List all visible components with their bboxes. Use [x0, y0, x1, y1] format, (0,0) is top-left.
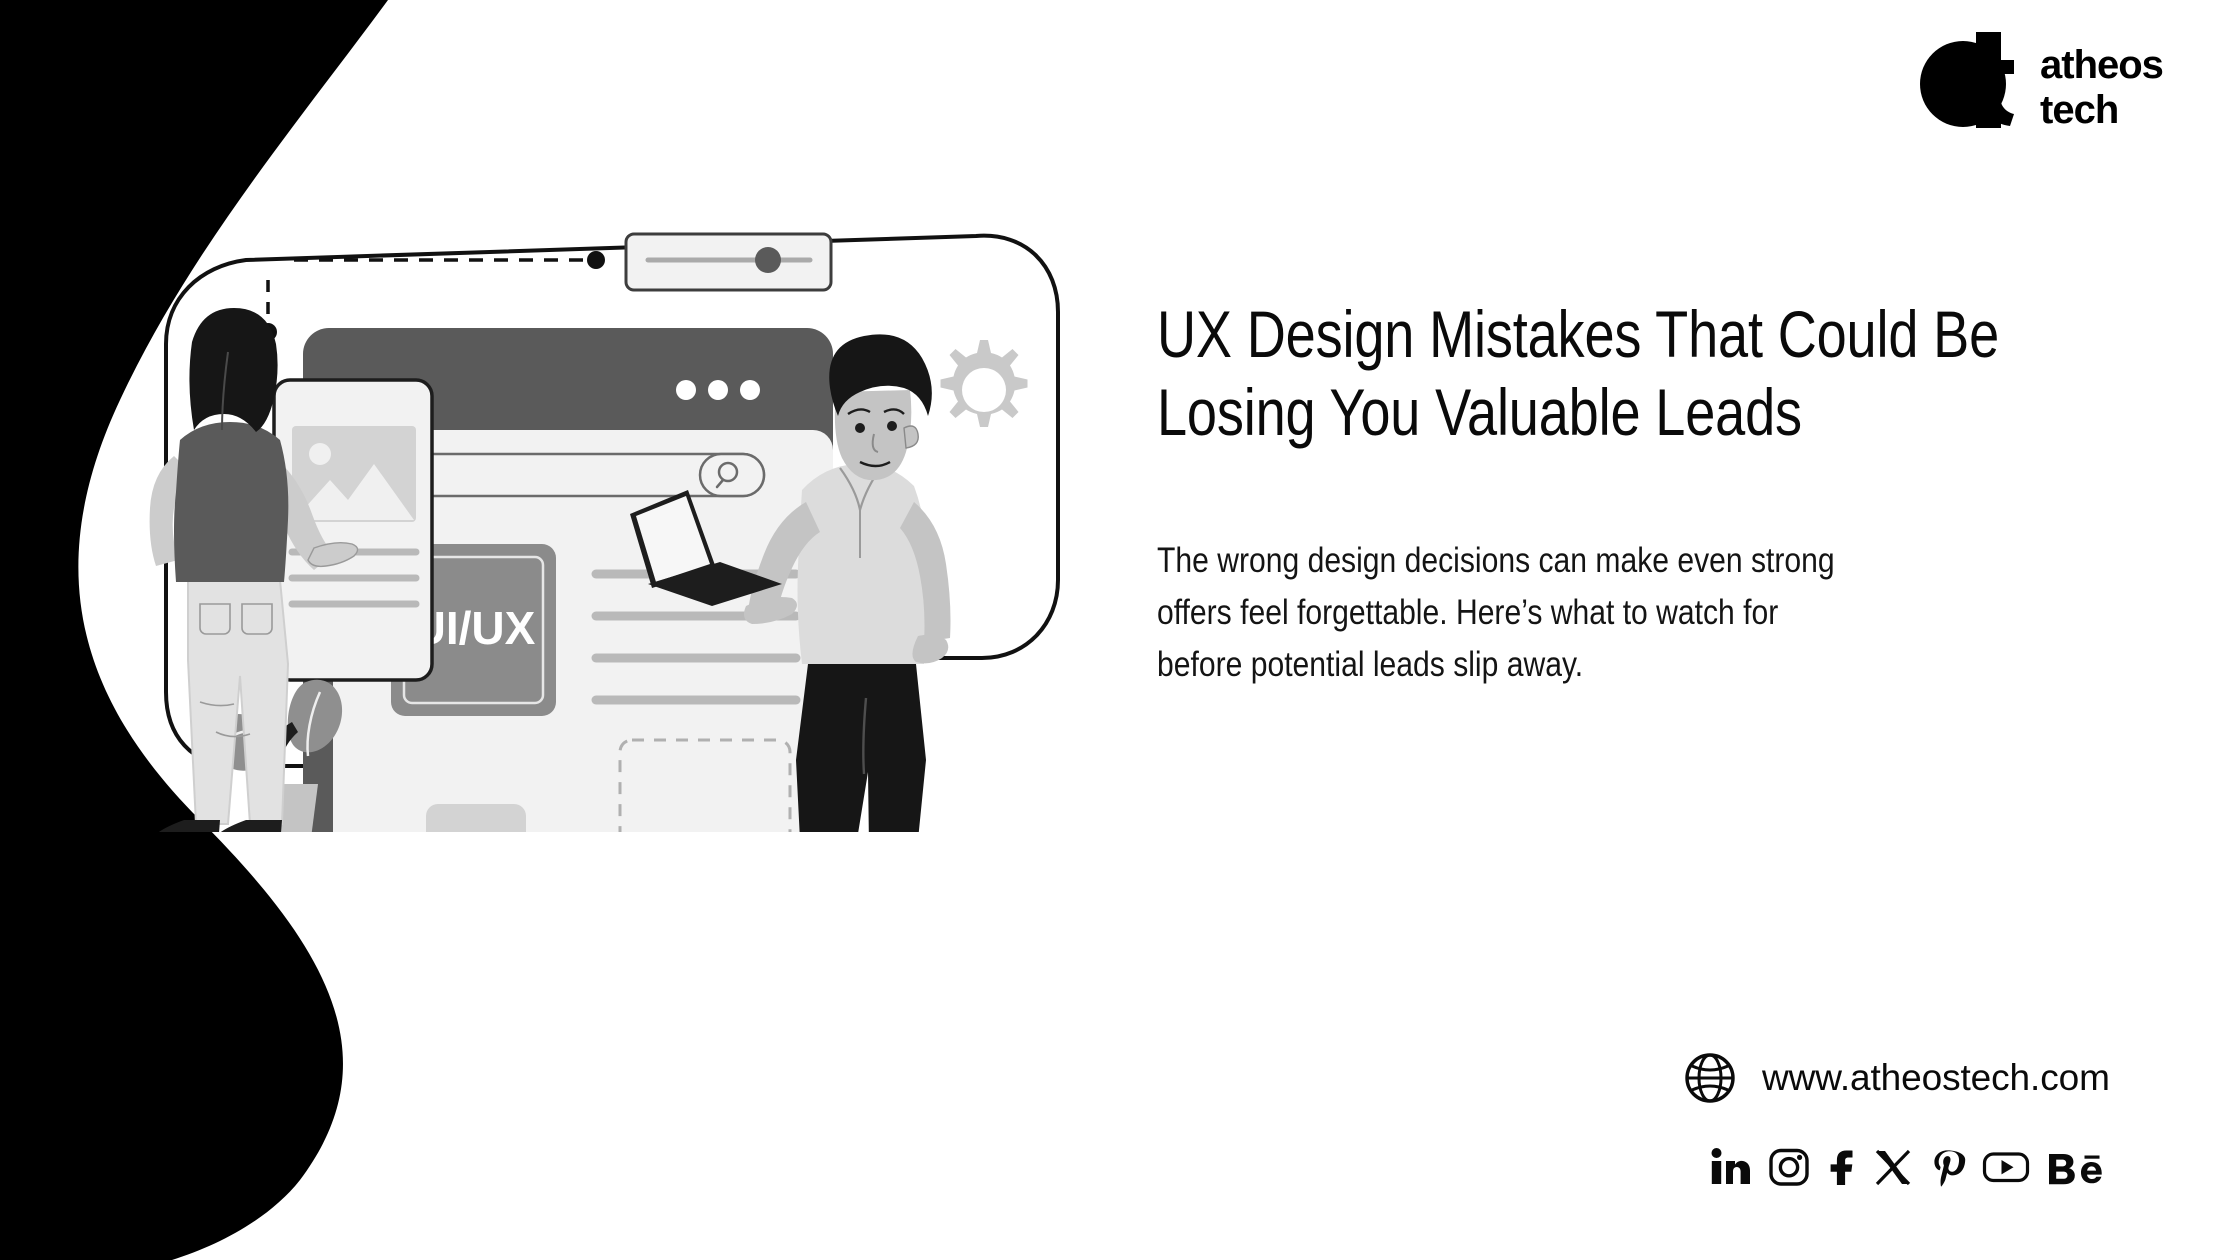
behance-icon[interactable] — [2046, 1146, 2108, 1188]
facebook-icon[interactable] — [1826, 1146, 1856, 1188]
atheos-tech-logo[interactable]: atheos tech — [1918, 28, 2186, 130]
code-badge: </> — [426, 804, 526, 832]
pinterest-icon[interactable] — [1930, 1146, 1966, 1188]
youtube-icon[interactable] — [1982, 1146, 2030, 1188]
page-subcopy: The wrong design decisions can make even… — [1157, 535, 2069, 691]
website-url-label: www.atheostech.com — [1762, 1057, 2110, 1099]
code-badge-label: </> — [451, 827, 500, 832]
page-title: UX Design Mistakes That Could Be Losing … — [1157, 295, 2166, 451]
logo-wordmark-line1: atheos — [2040, 43, 2163, 87]
globe-icon — [1684, 1052, 1736, 1104]
logo-wordmark-line2: tech — [2040, 88, 2118, 130]
x-twitter-icon[interactable] — [1872, 1146, 1914, 1188]
gear-icon — [941, 340, 1028, 427]
ux-design-team-illustration: UI/UX </> — [96, 232, 1116, 832]
poster-canvas: atheos tech — [0, 0, 2240, 1260]
website-link[interactable]: www.atheostech.com — [1684, 1052, 2110, 1104]
linkedin-icon[interactable] — [1710, 1146, 1752, 1188]
instagram-icon[interactable] — [1768, 1146, 1810, 1188]
text-column: UX Design Mistakes That Could Be Losing … — [1157, 295, 2167, 451]
slider-widget-card — [626, 234, 831, 290]
social-links — [1710, 1146, 2108, 1188]
